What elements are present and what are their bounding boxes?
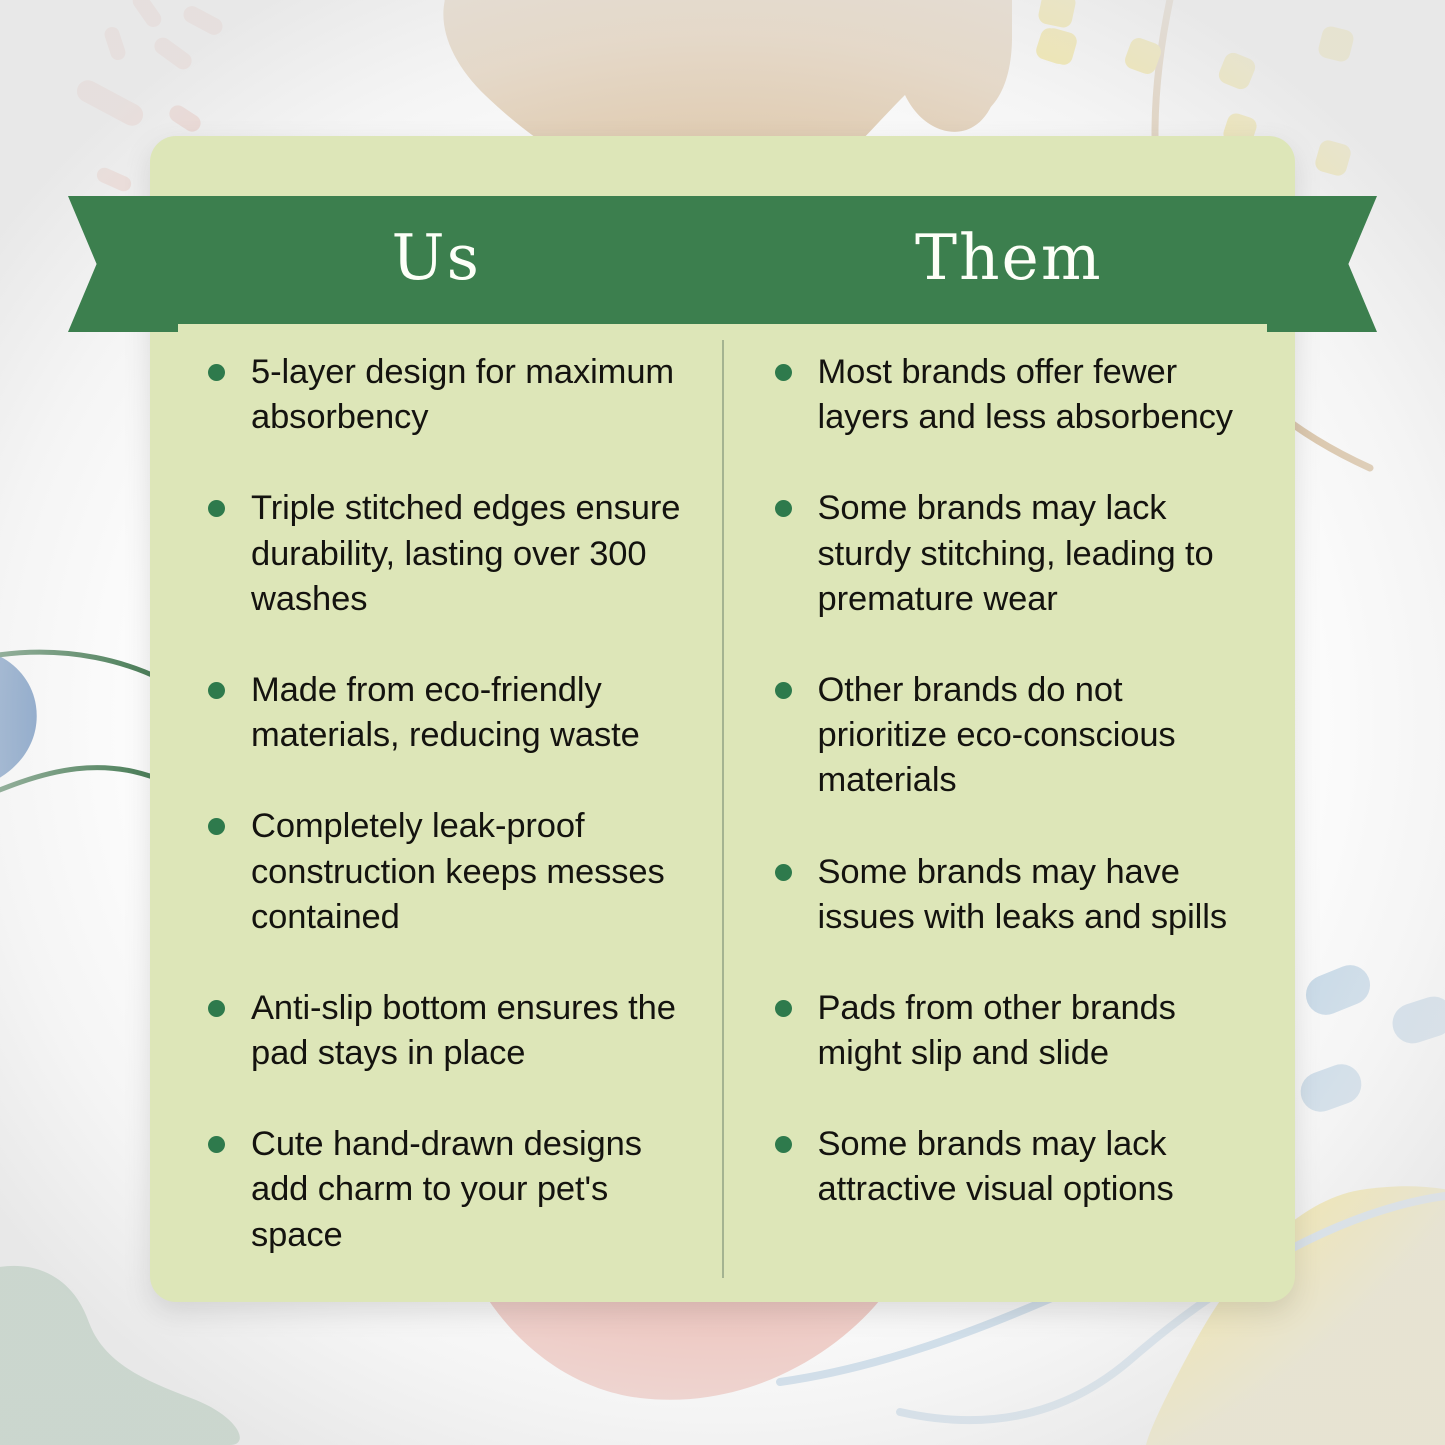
list-item: Some brands may lack sturdy stitching, l… xyxy=(769,486,1252,622)
bullet-dot-icon xyxy=(208,1136,225,1153)
infographic-canvas: Us Them 5-layer design for maximum absor… xyxy=(0,0,1445,1445)
column-them: Most brands offer fewer layers and less … xyxy=(723,332,1296,1292)
column-title-them: Them xyxy=(723,196,1296,324)
ribbon-banner: Us Them xyxy=(0,196,1445,332)
bullet-dot-icon xyxy=(775,500,792,517)
bullet-text: Some brands may lack attractive visual o… xyxy=(818,1125,1174,1208)
comparison-columns: 5-layer design for maximum absorbency Tr… xyxy=(150,332,1295,1292)
bullet-text: Anti-slip bottom ensures the pad stays i… xyxy=(251,989,676,1072)
bullet-text: Triple stitched edges ensure durability,… xyxy=(251,489,680,617)
list-item: Made from eco-friendly materials, reduci… xyxy=(202,668,689,758)
bullet-text: Some brands may have issues with leaks a… xyxy=(818,853,1227,936)
bullet-text: Made from eco-friendly materials, reduci… xyxy=(251,671,640,754)
bullet-dot-icon xyxy=(775,682,792,699)
ribbon-titles: Us Them xyxy=(150,196,1295,324)
list-item: Some brands may lack attractive visual o… xyxy=(769,1122,1252,1212)
bullet-text: Completely leak-proof construction keeps… xyxy=(251,807,665,935)
bullet-list-them: Most brands offer fewer layers and less … xyxy=(769,350,1252,1213)
bullet-text: Some brands may lack sturdy stitching, l… xyxy=(818,489,1214,617)
bullet-dot-icon xyxy=(775,864,792,881)
bullet-dot-icon xyxy=(775,1136,792,1153)
list-item: Most brands offer fewer layers and less … xyxy=(769,350,1252,440)
bullet-dot-icon xyxy=(208,682,225,699)
bullet-dot-icon xyxy=(208,818,225,835)
bullet-dot-icon xyxy=(208,364,225,381)
list-item: Triple stitched edges ensure durability,… xyxy=(202,486,689,622)
list-item: Anti-slip bottom ensures the pad stays i… xyxy=(202,986,689,1076)
bullet-text: Other brands do not prioritize eco-consc… xyxy=(818,671,1176,799)
list-item: Cute hand-drawn designs add charm to you… xyxy=(202,1122,689,1258)
bullet-dot-icon xyxy=(775,1000,792,1017)
bullet-dot-icon xyxy=(208,1000,225,1017)
bullet-dot-icon xyxy=(775,364,792,381)
list-item: 5-layer design for maximum absorbency xyxy=(202,350,689,440)
bullet-list-us: 5-layer design for maximum absorbency Tr… xyxy=(202,350,689,1258)
list-item: Some brands may have issues with leaks a… xyxy=(769,850,1252,940)
list-item: Other brands do not prioritize eco-consc… xyxy=(769,668,1252,804)
column-title-us: Us xyxy=(150,196,723,324)
bullet-text: Pads from other brands might slip and sl… xyxy=(818,989,1176,1072)
column-us: 5-layer design for maximum absorbency Tr… xyxy=(150,332,723,1292)
bullet-dot-icon xyxy=(208,500,225,517)
bullet-text: Cute hand-drawn designs add charm to you… xyxy=(251,1125,642,1253)
list-item: Pads from other brands might slip and sl… xyxy=(769,986,1252,1076)
bullet-text: 5-layer design for maximum absorbency xyxy=(251,353,674,436)
bullet-text: Most brands offer fewer layers and less … xyxy=(818,353,1233,436)
list-item: Completely leak-proof construction keeps… xyxy=(202,804,689,940)
